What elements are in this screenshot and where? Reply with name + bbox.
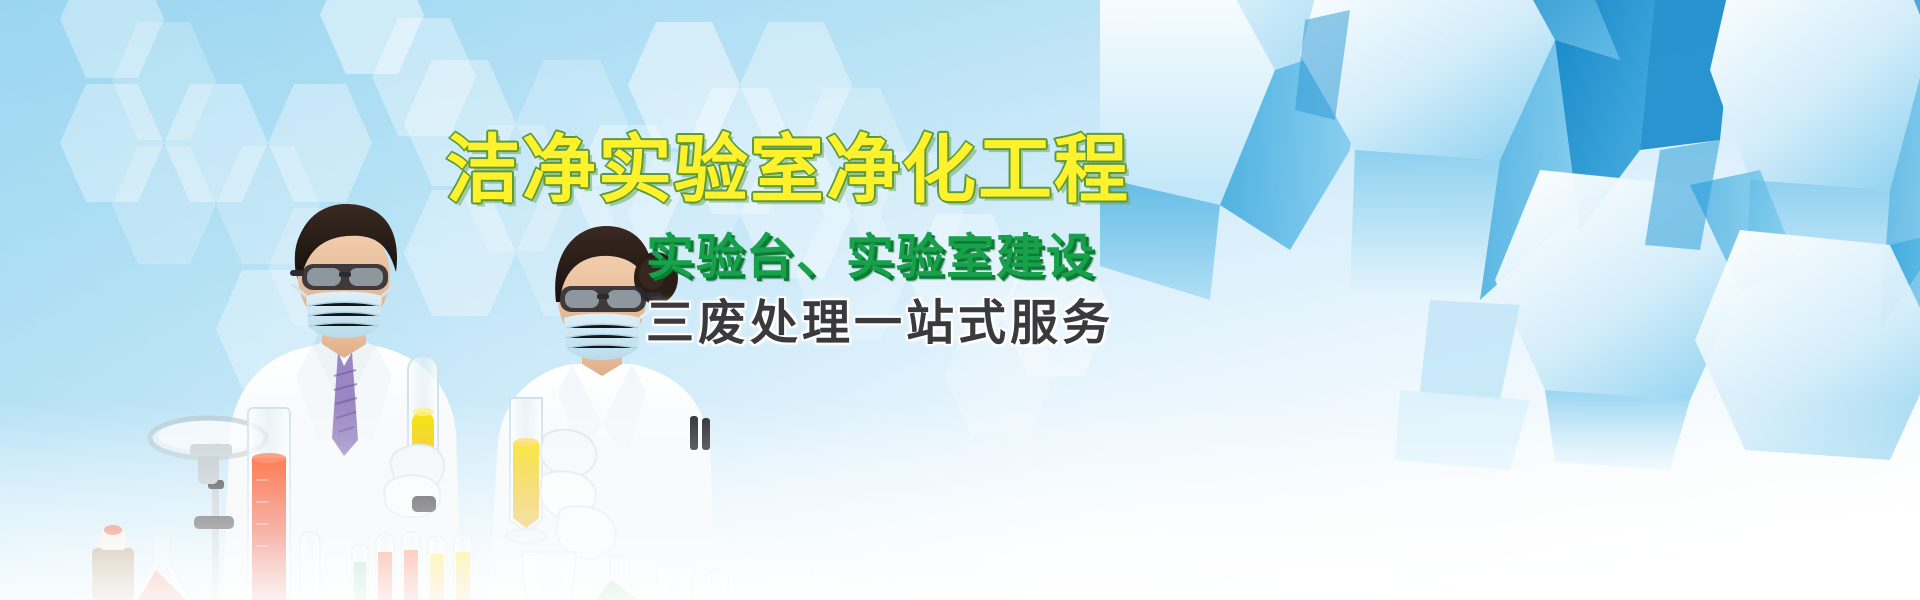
headline-line-2: 实验台、实验室建设 bbox=[646, 228, 1206, 286]
headline-line-1: 洁净实验室净化工程 bbox=[446, 128, 1206, 212]
headline-line-3: 三废处理一站式服务 bbox=[646, 294, 1206, 352]
lab-purification-banner: 洁净实验室净化工程 实验台、实验室建设 三废处理一站式服务 bbox=[0, 0, 1920, 600]
blue-crystal-hexagon-prisms bbox=[1100, 0, 1920, 520]
headline-block: 洁净实验室净化工程 实验台、实验室建设 三废处理一站式服务 bbox=[446, 128, 1206, 352]
